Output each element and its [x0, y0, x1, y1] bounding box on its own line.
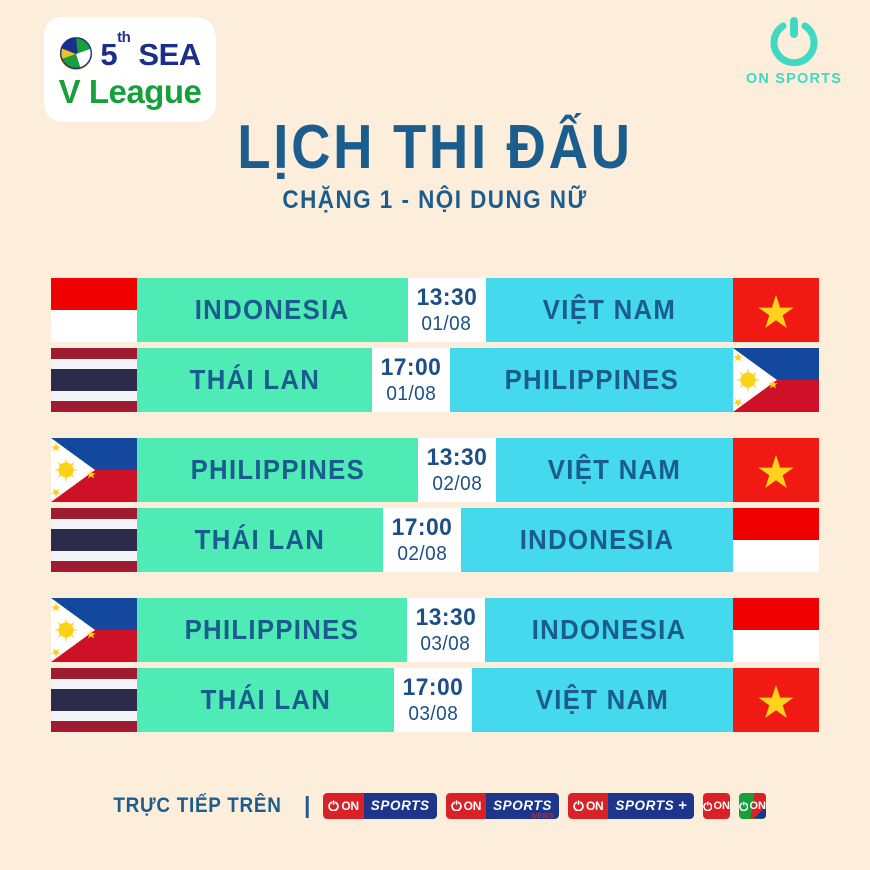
- channel-on-label: ON: [464, 799, 481, 813]
- match-time-block: 13:30 01/08: [408, 278, 486, 342]
- channel-sports-label: SPORTS: [615, 798, 674, 813]
- power-button-icon: [451, 800, 462, 811]
- page-subtitle: CHẶNG 1 - NỘI DUNG NỮ: [44, 186, 827, 215]
- home-team: PHILIPPINES: [137, 598, 407, 662]
- match-date: 01/08: [386, 383, 436, 406]
- match-time-block: 13:30 02/08: [418, 438, 496, 502]
- channel-on-badge: ON: [323, 793, 363, 819]
- channel-on-label: ON: [749, 800, 766, 812]
- match-time-block: 17:00 02/08: [383, 508, 461, 572]
- channel-sports-label: SPORTS: [493, 798, 552, 813]
- home-team: PHILIPPINES: [137, 438, 418, 502]
- match-time-block: 17:00 01/08: [372, 348, 450, 412]
- away-team: PHILIPPINES: [450, 348, 733, 412]
- table-row: THÁI LAN 17:00 03/08 VIỆT NAM: [51, 668, 819, 732]
- channel-on-plus-app[interactable]: ON: [739, 793, 766, 819]
- home-team-label: PHILIPPINES: [190, 454, 364, 486]
- channel-sports-badge: SPORTS: [364, 793, 437, 819]
- away-team: INDONESIA: [485, 598, 733, 662]
- away-team-label: VIỆT NAM: [548, 454, 681, 486]
- vietnam-flag: [733, 668, 819, 732]
- philippines-flag: [733, 348, 819, 412]
- match-date: 02/08: [397, 543, 447, 566]
- vietnam-flag: [733, 438, 819, 502]
- channel-on-sports[interactable]: ON SPORTS: [323, 793, 436, 819]
- away-team: INDONESIA: [461, 508, 733, 572]
- channel-on-sports-news[interactable]: ON SPORTS NEWS: [446, 793, 559, 819]
- channel-on-label: ON: [341, 799, 358, 813]
- home-team: THÁI LAN: [137, 348, 372, 412]
- match-time: 13:30: [427, 444, 488, 472]
- table-row: PHILIPPINES 13:30 03/08 INDONESIA: [51, 598, 819, 662]
- match-time-block: 17:00 03/08: [394, 668, 472, 732]
- home-team: THÁI LAN: [137, 668, 394, 732]
- home-team-label: THÁI LAN: [189, 364, 320, 396]
- table-row: THÁI LAN 17:00 01/08 PHILIPPINES: [51, 348, 819, 412]
- indonesia-flag: [733, 598, 819, 662]
- match-date: 03/08: [421, 633, 471, 656]
- home-team: INDONESIA: [137, 278, 408, 342]
- power-button-icon: [328, 800, 339, 811]
- channel-on-sports-plus[interactable]: ON SPORTS +: [568, 793, 694, 819]
- footer-label: TRỰC TIẾP TRÊN: [113, 794, 281, 818]
- thailand-flag: [51, 668, 137, 732]
- away-team: VIỆT NAM: [486, 278, 733, 342]
- vietnam-flag: [733, 278, 819, 342]
- table-row: PHILIPPINES 13:30 02/08 VIỆT NAM: [51, 438, 819, 502]
- table-row: INDONESIA 13:30 01/08 VIỆT NAM: [51, 278, 819, 342]
- match-time: 13:30: [415, 604, 476, 632]
- league-logo-number: 5: [100, 37, 117, 72]
- page-title: LỊCH THI ĐẤU: [52, 112, 818, 183]
- league-logo-line1: 5th SEA: [59, 33, 200, 75]
- channel-on-badge: ON: [446, 793, 486, 819]
- league-logo-5th: 5th SEA: [100, 39, 200, 70]
- away-team-label: INDONESIA: [532, 614, 687, 646]
- channel-sports-badge: SPORTS NEWS: [486, 793, 559, 819]
- league-logo: 5th SEA V League: [44, 17, 216, 122]
- league-logo-card: 5th SEA V League: [44, 17, 216, 122]
- indonesia-flag: [733, 508, 819, 572]
- table-row: THÁI LAN 17:00 02/08 INDONESIA: [51, 508, 819, 572]
- away-team: VIỆT NAM: [496, 438, 733, 502]
- footer-separator: |: [304, 792, 310, 819]
- away-team-label: INDONESIA: [520, 524, 675, 556]
- league-logo-sea: SEA: [138, 37, 200, 72]
- away-team-label: VIỆT NAM: [543, 294, 676, 326]
- power-button-icon: [703, 801, 713, 811]
- match-schedule: INDONESIA 13:30 01/08 VIỆT NAM THÁI LAN …: [51, 278, 819, 738]
- away-team-label: VIỆT NAM: [536, 684, 669, 716]
- away-team-label: PHILIPPINES: [504, 364, 678, 396]
- channel-plus-label: +: [678, 798, 687, 813]
- away-team: VIỆT NAM: [472, 668, 733, 732]
- on-sports-brand: ON SPORTS: [734, 14, 854, 87]
- thailand-flag: [51, 508, 137, 572]
- home-team-label: INDONESIA: [195, 294, 350, 326]
- indonesia-flag: [51, 278, 137, 342]
- match-date: 03/08: [408, 703, 458, 726]
- power-button-icon: [767, 14, 821, 68]
- power-button-icon: [739, 801, 749, 811]
- home-team: THÁI LAN: [137, 508, 383, 572]
- match-date: 02/08: [432, 473, 482, 496]
- match-time: 17:00: [403, 674, 464, 702]
- match-time: 17:00: [381, 354, 442, 382]
- broadcast-footer: TRỰC TIẾP TRÊN | ON SPORTS ON SPORTS NEW…: [0, 792, 870, 819]
- match-time: 17:00: [391, 514, 452, 542]
- philippines-flag: [51, 438, 137, 502]
- home-team-label: PHILIPPINES: [185, 614, 359, 646]
- channel-on-badge: ON: [568, 793, 608, 819]
- channel-on-label: ON: [586, 799, 603, 813]
- league-logo-ordinal: th: [117, 29, 130, 46]
- home-team-label: THÁI LAN: [200, 684, 331, 716]
- power-button-icon: [573, 800, 584, 811]
- channel-on-label: ON: [713, 800, 730, 812]
- match-time-block: 13:30 03/08: [407, 598, 485, 662]
- channel-sports-label: SPORTS: [371, 798, 430, 813]
- channel-news-label: NEWS: [532, 813, 554, 819]
- league-logo-line2: V League: [59, 75, 202, 110]
- channel-on-app[interactable]: ON: [703, 793, 730, 819]
- home-team-label: THÁI LAN: [195, 524, 326, 556]
- thailand-flag: [51, 348, 137, 412]
- channel-sports-badge: SPORTS +: [608, 793, 694, 819]
- match-time: 13:30: [416, 284, 477, 312]
- volleyball-icon: [59, 37, 93, 71]
- philippines-flag: [51, 598, 137, 662]
- brand-label: ON SPORTS: [746, 71, 842, 87]
- match-date: 01/08: [422, 313, 472, 336]
